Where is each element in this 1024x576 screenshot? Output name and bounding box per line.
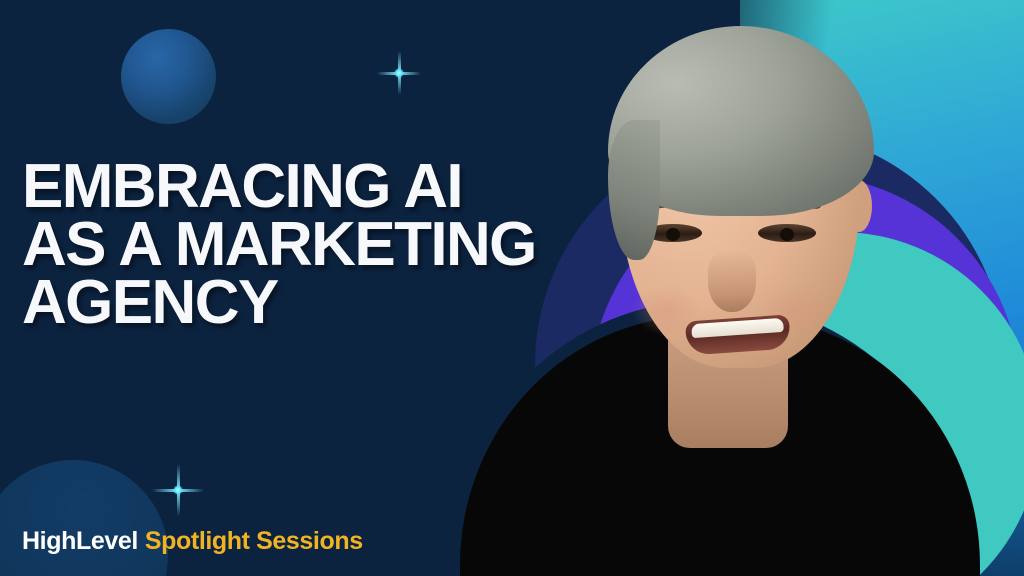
thumbnail-frame: EMBRACING AI AS A MARKETING AGENCY HighL…	[0, 0, 1024, 576]
sparkle-top-icon	[377, 51, 421, 95]
speaker-pupil-right	[780, 228, 794, 241]
speaker-eye-right	[758, 224, 816, 242]
brand-name: HighLevel	[22, 527, 138, 555]
speaker-nose	[708, 250, 756, 312]
sparkle-core	[394, 68, 404, 78]
headline-line-1: EMBRACING AI	[22, 158, 682, 216]
series-name: Spotlight Sessions	[145, 527, 363, 555]
decor-circle-top	[121, 29, 216, 124]
headline-line-3: AGENCY	[22, 274, 682, 332]
sparkle-bottom-icon	[152, 464, 204, 516]
headline-line-2: AS A MARKETING	[22, 216, 682, 274]
sparkle-core	[173, 485, 183, 495]
headline: EMBRACING AI AS A MARKETING AGENCY	[22, 158, 682, 332]
speaker-teeth	[691, 318, 784, 338]
footer-brand-lockup: HighLevelSpotlight Sessions	[22, 527, 363, 556]
decor-circle-bottom	[0, 460, 168, 576]
